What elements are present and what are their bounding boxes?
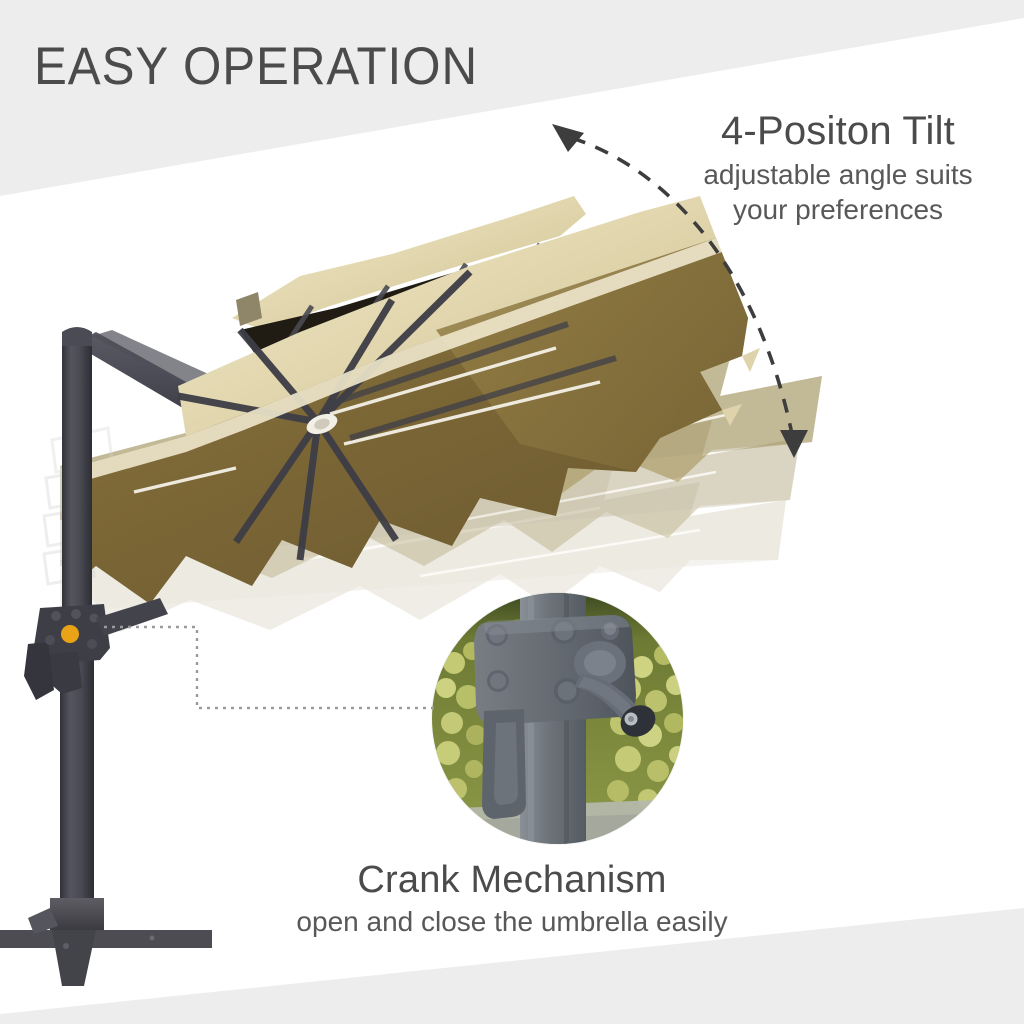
tilt-subtitle-line-1: adjustable angle suits	[660, 158, 1016, 192]
crank-title: Crank Mechanism	[182, 860, 842, 901]
pole-cap	[62, 327, 92, 346]
tilt-subtitle-line-2: your preferences	[660, 193, 1016, 227]
crank-subtitle: open and close the umbrella easily	[182, 905, 842, 939]
infographic-canvas: EASY OPERATION	[0, 0, 1024, 1024]
umbrella-base	[0, 898, 212, 986]
crank-button-icon	[61, 625, 79, 643]
crank-callout: Crank Mechanism open and close the umbre…	[182, 860, 842, 939]
tilt-title: 4-Positon Tilt	[660, 110, 1016, 152]
pole-upper	[62, 338, 92, 638]
crank-closeup-photo	[432, 593, 683, 844]
umbrella-pole-and-base	[0, 327, 212, 986]
tilt-subtitle: adjustable angle suits your preferences	[660, 158, 1016, 226]
tilt-callout: 4-Positon Tilt adjustable angle suits yo…	[660, 110, 1016, 227]
